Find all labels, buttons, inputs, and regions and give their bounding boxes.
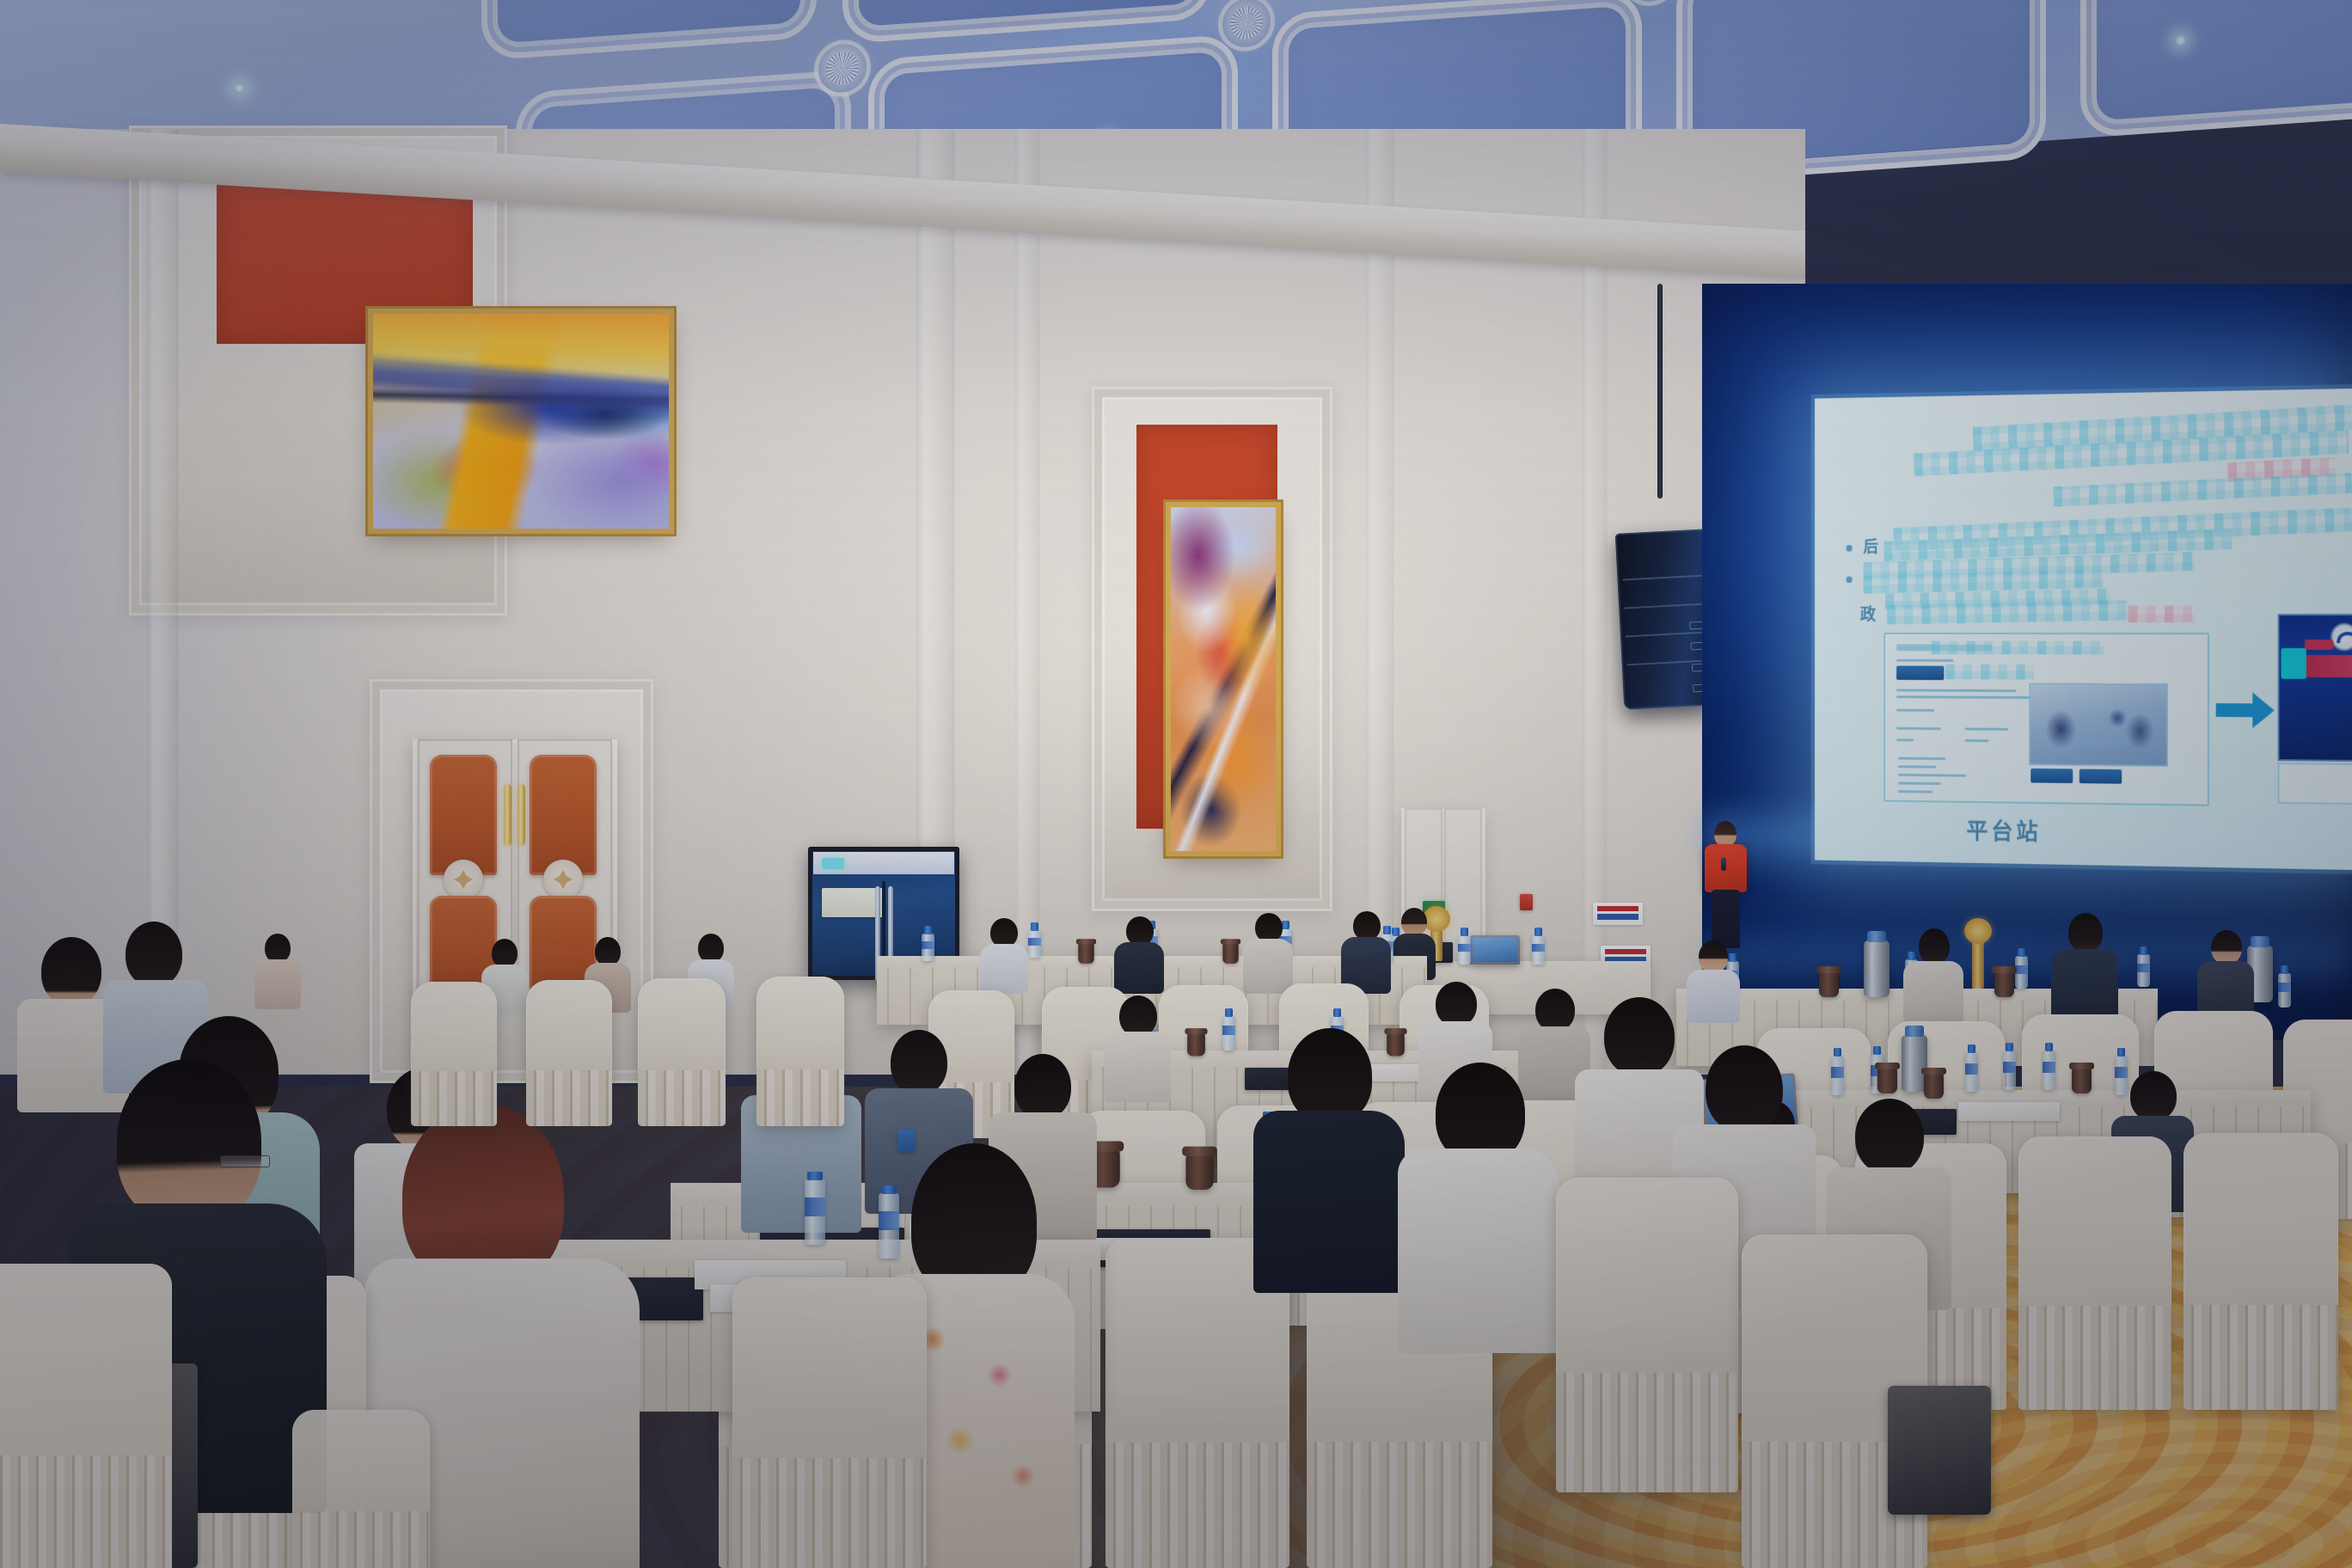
attendee — [1903, 928, 1963, 1023]
mockup-line — [1965, 727, 2008, 730]
thermos-flask — [1864, 940, 1890, 997]
attendee — [1253, 1028, 1405, 1286]
person-torso — [1253, 1111, 1405, 1293]
redacted-body-block — [1887, 600, 2128, 625]
door-medallion — [444, 860, 483, 899]
mockup-line — [1896, 695, 2049, 699]
person-head — [1401, 908, 1427, 936]
person-head — [1706, 1045, 1783, 1133]
tea-cup — [1924, 1073, 1944, 1099]
banquet-chair — [756, 977, 844, 1126]
eyeglasses — [220, 1155, 270, 1167]
door-medallion — [543, 860, 583, 899]
tea-cup — [1187, 1033, 1205, 1057]
person-head — [2130, 1071, 2177, 1121]
painting-abstract-vertical — [1171, 507, 1276, 851]
person-head — [2211, 930, 2242, 965]
line-array-speaker — [1615, 529, 1715, 709]
mockup-line — [1896, 689, 2016, 692]
person-head — [891, 1030, 947, 1095]
app-badge — [2305, 640, 2333, 650]
person-torso — [1903, 961, 1963, 1023]
cooler-header — [813, 852, 954, 874]
water-bottle — [805, 1179, 825, 1245]
tea-cup — [1819, 971, 1839, 997]
paper-sheet — [1958, 1102, 2060, 1121]
soffit-downlight — [234, 83, 245, 94]
mockup-action-button[interactable] — [2030, 769, 2073, 783]
person-head — [492, 939, 518, 968]
fire-alarm-box — [1520, 894, 1533, 910]
banquet-chair — [1556, 1178, 1738, 1492]
mockup-list-line — [1898, 757, 1945, 760]
water-bottle — [1532, 935, 1545, 965]
attendee — [1341, 911, 1391, 992]
person-head — [1126, 916, 1154, 946]
mockup-line — [1965, 739, 1989, 742]
slide-bullet-char: 后 — [1864, 535, 1878, 557]
tea-cup — [1994, 971, 2014, 997]
person-head — [1288, 1028, 1372, 1123]
person-head — [1436, 1063, 1525, 1162]
attendee — [254, 934, 301, 1006]
person-head — [41, 937, 101, 1006]
person-head — [117, 1059, 261, 1222]
mockup-list-line — [1898, 790, 1933, 793]
door-panel — [530, 755, 597, 875]
mockup-list-line — [1898, 774, 1967, 777]
mockup-tag — [1896, 665, 1944, 680]
mockup-action-button[interactable] — [2079, 769, 2122, 784]
banquet-chair — [526, 980, 612, 1126]
water-bottle — [1222, 1016, 1235, 1050]
tea-cup — [2072, 1068, 2092, 1093]
banquet-chair — [0, 1264, 172, 1568]
slide-bullet-marker — [1846, 545, 1852, 552]
presenter — [1700, 821, 1752, 950]
banquet-chair — [2184, 1133, 2338, 1410]
water-bottle — [2043, 1050, 2055, 1090]
tea-cup — [1185, 1154, 1213, 1190]
presenter-skirt — [1712, 890, 1740, 948]
speaker-suspension-rod — [1657, 284, 1663, 499]
banquet-chair — [292, 1410, 430, 1568]
person-head — [1855, 1099, 1924, 1174]
redacted-mockup-block — [1945, 665, 2034, 680]
banquet-chair — [2018, 1136, 2171, 1410]
person-head — [1535, 989, 1575, 1032]
slide-webpage-mockup — [1883, 633, 2209, 806]
tea-cup — [1222, 943, 1238, 964]
wall-notice-sign — [1593, 903, 1643, 925]
door-panel — [430, 755, 497, 875]
mockup-line — [1896, 727, 1941, 730]
presenter-head — [1714, 821, 1736, 847]
projection-screen: 后 政 — [1815, 389, 2352, 870]
tea-cup — [1877, 1068, 1897, 1093]
sign-band — [1605, 949, 1647, 955]
door-handle[interactable] — [504, 784, 511, 846]
person-torso — [980, 944, 1028, 994]
slide-app-footer — [2278, 763, 2352, 805]
person-torso — [1243, 939, 1293, 994]
attendee — [1398, 1063, 1559, 1346]
attendee — [1114, 916, 1164, 992]
water-bottle — [2015, 956, 2028, 989]
slide-arrow-icon — [2216, 690, 2275, 730]
water-bottle — [1831, 1056, 1844, 1095]
slide-caption: 平台站 — [1966, 812, 2041, 846]
attendee — [1243, 913, 1293, 992]
person-head — [1255, 913, 1283, 942]
person-head — [1436, 982, 1477, 1026]
water-bottle — [2278, 973, 2291, 1008]
sign-band — [1597, 906, 1639, 912]
person-head — [698, 934, 724, 963]
person-head — [1353, 911, 1381, 940]
person-head — [1119, 995, 1157, 1037]
redacted-mockup-block — [1932, 641, 2105, 655]
person-head — [265, 934, 291, 963]
attendee — [980, 918, 1028, 992]
person-head — [595, 937, 621, 966]
person-head — [1699, 940, 1728, 973]
mockup-list-line — [1898, 765, 1936, 768]
person-torso — [254, 959, 301, 1009]
water-bottle — [1965, 1052, 1978, 1092]
person-head — [2068, 913, 2103, 952]
banquet-chair — [411, 982, 497, 1126]
app-banner — [2301, 655, 2352, 677]
water-bottle — [1028, 930, 1041, 958]
laptop[interactable] — [1470, 935, 1520, 965]
table-number-stand — [1972, 939, 1984, 989]
mockup-line — [1896, 709, 1934, 712]
person-head — [1604, 997, 1675, 1076]
redacted-body-block — [2128, 605, 2195, 622]
mockup-list-line — [1898, 782, 1941, 786]
person-torso — [1104, 1032, 1171, 1102]
person-head — [990, 918, 1018, 947]
person-torso — [1398, 1148, 1559, 1353]
banquet-chair — [732, 1277, 927, 1568]
redacted-heading-block — [2053, 473, 2352, 507]
attendee — [1104, 995, 1171, 1100]
water-bottle — [2003, 1050, 2016, 1090]
banquet-chair — [638, 978, 726, 1126]
cooler-display — [822, 858, 844, 869]
sign-band — [1597, 914, 1639, 920]
person-head — [1919, 928, 1950, 965]
painting-canvas — [1171, 507, 1276, 851]
water-bottle — [922, 934, 934, 961]
person-head — [126, 922, 182, 987]
person-head — [1014, 1054, 1071, 1119]
painting-canvas — [373, 314, 669, 529]
water-bottle — [1458, 935, 1471, 965]
ballroom-photograph: 后 政 — [0, 0, 2352, 1568]
handbag — [1888, 1386, 1991, 1515]
tea-cup — [1078, 943, 1093, 964]
app-tile — [2281, 648, 2306, 679]
slide-body-char: 政 — [1860, 601, 1876, 625]
microphone-icon — [1721, 857, 1726, 871]
mockup-line — [1896, 659, 1954, 662]
painting-abstract-landscape — [373, 314, 669, 529]
person-torso — [1114, 942, 1164, 994]
door-handle[interactable] — [518, 784, 525, 846]
person-torso — [2051, 949, 2118, 1023]
slide-app-mockup — [2278, 614, 2352, 762]
attendee — [2051, 913, 2118, 1023]
water-bottle — [2137, 954, 2150, 987]
mockup-photo — [2029, 683, 2167, 766]
mockup-line — [1896, 738, 1914, 741]
slide-bullet-marker — [1846, 576, 1852, 583]
